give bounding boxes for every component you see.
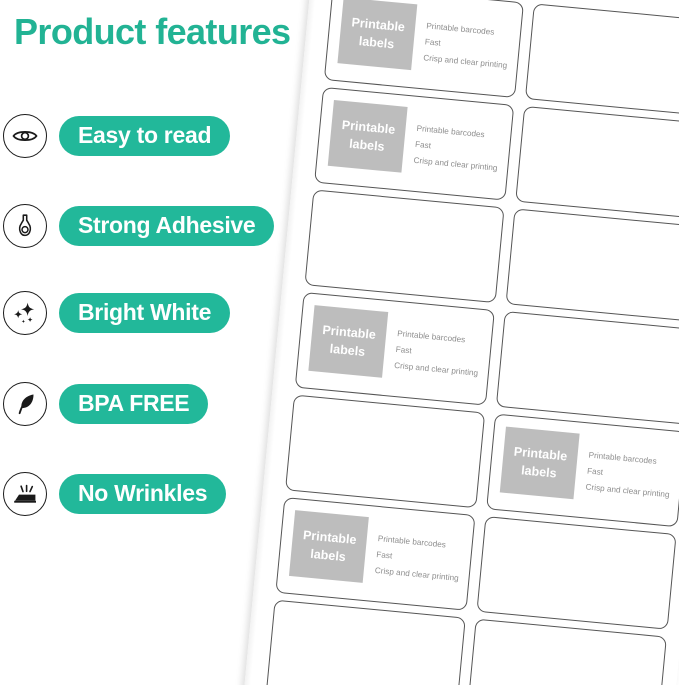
label-cell: PrintablelabelsPrintable barcodesFastCri… (486, 414, 679, 528)
label-badge: Printablelabels (328, 100, 408, 173)
label-cell (476, 516, 676, 630)
label-cell (515, 106, 679, 220)
label-content: PrintablelabelsPrintable barcodesFastCri… (325, 0, 523, 97)
feature-label-pill: BPA FREE (59, 384, 208, 424)
iron-smooth-icon (3, 472, 47, 516)
glue-bottle-icon (3, 204, 47, 248)
feature-label-pill: Easy to read (59, 116, 230, 156)
screenshot-stage: PrintablelabelsPrintable barcodesFastCri… (0, 0, 679, 685)
leaf-icon (3, 382, 47, 426)
label-badge: Printablelabels (337, 0, 417, 70)
feature-row: Easy to read (3, 113, 230, 159)
features-panel: Product features Easy to read Strong Adh… (0, 0, 330, 685)
label-badge-line2: labels (329, 340, 366, 361)
label-cell: PrintablelabelsPrintable barcodesFastCri… (314, 87, 514, 201)
page-title: Product features (14, 12, 290, 52)
feature-row: Strong Adhesive (3, 203, 274, 249)
feature-row: BPA FREE (3, 381, 208, 427)
label-cell (525, 3, 679, 117)
feature-label-pill: No Wrinkles (59, 474, 226, 514)
label-cell (304, 189, 504, 303)
label-content: PrintablelabelsPrintable barcodesFastCri… (487, 415, 679, 526)
label-bullet-list: Printable barcodesFastCrisp and clear pr… (413, 108, 503, 177)
label-content: PrintablelabelsPrintable barcodesFastCri… (315, 88, 513, 199)
feature-row: No Wrinkles (3, 471, 226, 517)
label-bullet-list: Printable barcodesFastCrisp and clear pr… (393, 313, 483, 382)
sparkles-icon (3, 291, 47, 335)
feature-label-pill: Strong Adhesive (59, 206, 274, 246)
eye-icon (3, 114, 47, 158)
label-bullet-list: Printable barcodesFastCrisp and clear pr… (585, 435, 675, 504)
label-cell (506, 208, 679, 322)
label-badge-line2: labels (520, 461, 557, 482)
label-bullet-list: Printable barcodesFastCrisp and clear pr… (374, 518, 464, 587)
feature-row: Bright White (3, 290, 230, 336)
feature-label-pill: Bright White (59, 293, 230, 333)
label-cell (496, 311, 679, 425)
label-cell: PrintablelabelsPrintable barcodesFastCri… (324, 0, 524, 98)
label-badge-line2: labels (358, 32, 395, 53)
label-badge: Printablelabels (500, 427, 580, 500)
label-cell (467, 619, 667, 685)
label-bullet-list: Printable barcodesFastCrisp and clear pr… (423, 5, 513, 74)
label-badge-line2: labels (348, 135, 385, 156)
